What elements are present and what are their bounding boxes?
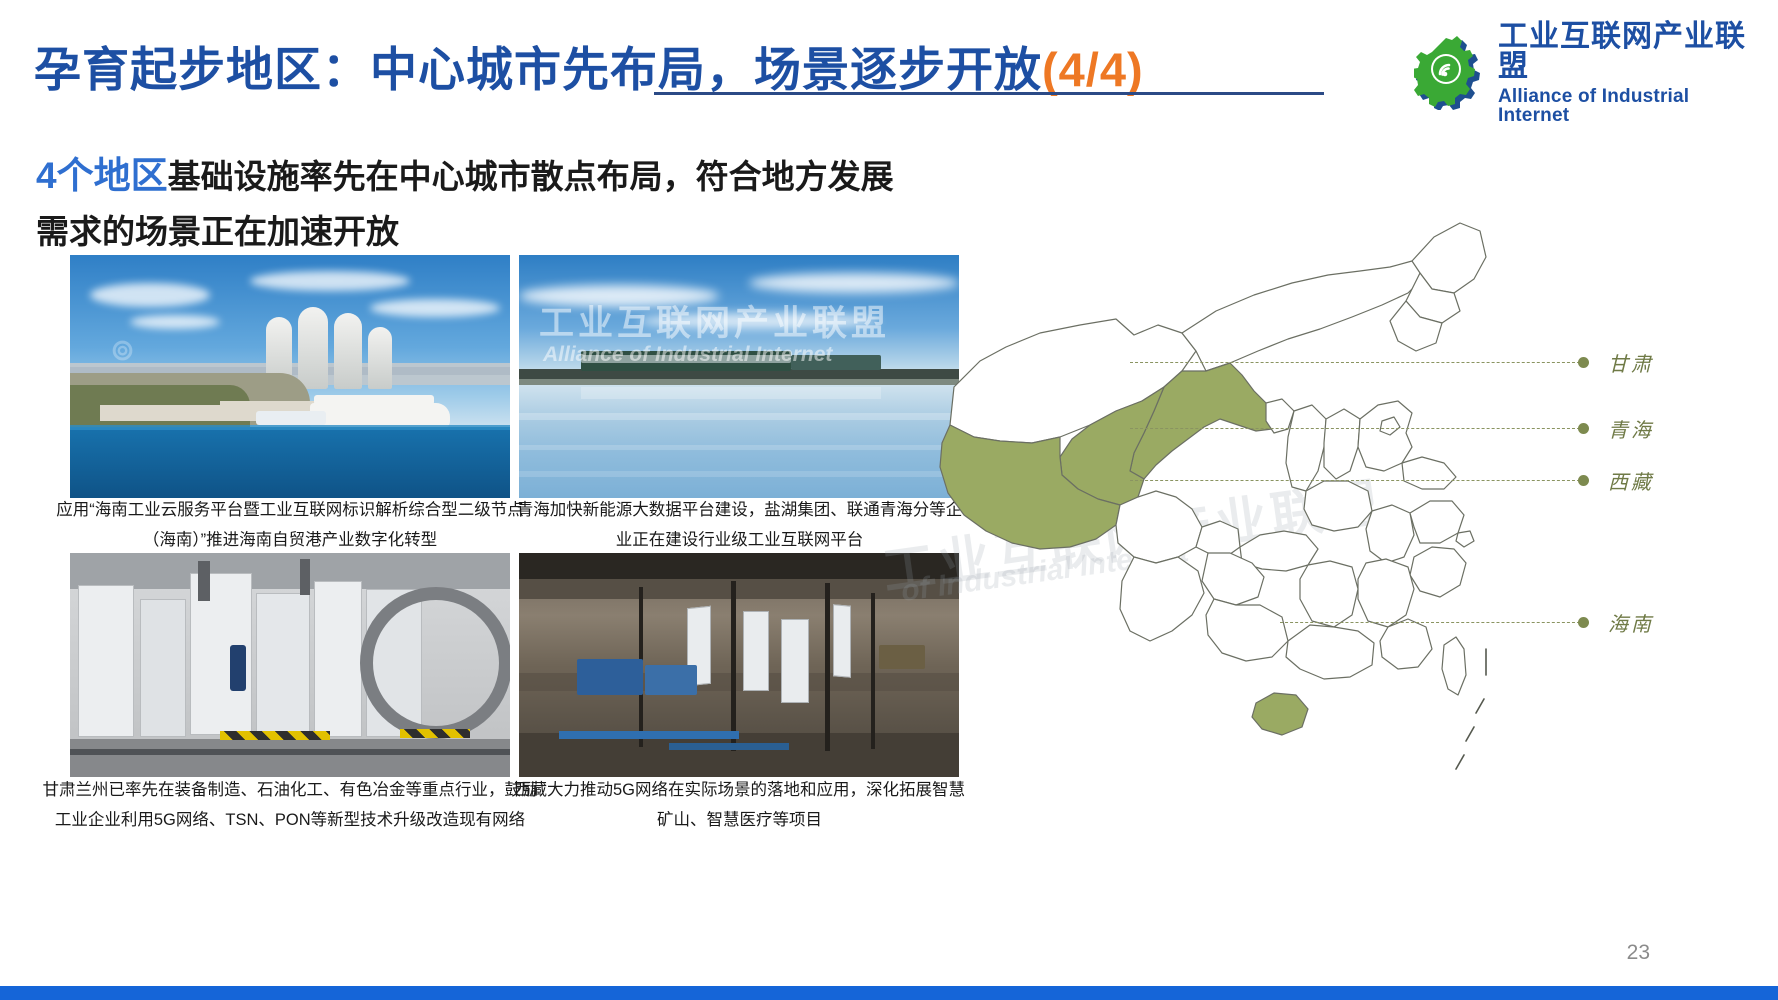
caption-qinghai: 青海加快新能源大数据平台建设，盐湖集团、联通青海分等企业正在建设行业级工业互联网… <box>512 495 967 555</box>
caption-hainan: 应用“海南工业云服务平台暨工业互联网标识解析综合型二级节点（海南）”推进海南自贸… <box>40 495 540 555</box>
footer-bar <box>0 986 1778 1000</box>
map-label-hainan: 海南 <box>1608 608 1654 637</box>
leader-line-gansu <box>1130 362 1580 364</box>
subtitle-line-2: 需求的场景正在加速开放 <box>36 205 399 253</box>
title-underline <box>654 92 1324 95</box>
photo-qinghai-salt-lake: 工业互联网产业联盟 Alliance of Industrial Interne… <box>519 255 959 498</box>
title-text: 孕育起步地区：中心城市先布局，场景逐步开放(4/4) <box>34 30 1354 110</box>
leader-line-tibet <box>1130 480 1580 482</box>
page-title: 孕育起步地区：中心城市先布局，场景逐步开放(4/4) <box>34 30 1354 110</box>
caption-gansu: 甘肃兰州已率先在装备制造、石油化工、有色冶金等重点行业，鼓励工业企业利用5G网络… <box>40 775 540 835</box>
leader-line-hainan <box>1280 622 1580 624</box>
leader-dot-tibet <box>1578 475 1589 486</box>
photo-hainan-sanya-bay: ⊚ <box>70 255 510 498</box>
subtitle-line-1-rest: 基础设施率先在中心城市散点布局，符合地方发展 <box>168 158 894 195</box>
page-number: 23 <box>1627 941 1650 965</box>
leader-dot-qinghai <box>1578 423 1589 434</box>
title-main: 孕育起步地区：中心城市先布局，场景逐步开放 <box>34 43 1042 96</box>
organization-logo: 工业互联网产业联盟 Alliance of Industrial Interne… <box>1414 36 1766 110</box>
leader-dot-hainan <box>1578 617 1589 628</box>
map-label-leaders: 甘肃 青海 西藏 海南 <box>1130 300 1778 700</box>
logo-title-en: Alliance of Industrial Internet <box>1498 87 1766 125</box>
gear-wifi-icon <box>1414 36 1488 110</box>
caption-tibet: 西藏大力推动5G网络在实际场景的落地和应用，深化拓展智慧矿山、智慧医疗等项目 <box>512 775 967 835</box>
logo-text: 工业互联网产业联盟 Alliance of Industrial Interne… <box>1498 22 1766 125</box>
logo-title-cn: 工业互联网产业联盟 <box>1498 22 1766 82</box>
map-label-gansu: 甘肃 <box>1608 348 1654 377</box>
leader-dot-gansu <box>1578 357 1589 368</box>
photo-tibet-smart-mine <box>519 553 959 777</box>
subtitle-line-1: 4个地区基础设施率先在中心城市散点布局，符合地方发展 <box>36 145 894 199</box>
map-label-qinghai: 青海 <box>1608 414 1654 443</box>
photo-gansu-lanzhou-factory <box>70 553 510 777</box>
map-label-tibet: 西藏 <box>1608 466 1654 495</box>
title-counter: (4/4) <box>1042 43 1144 96</box>
slide-root: 孕育起步地区：中心城市先布局，场景逐步开放(4/4) 工业互联网产业 <box>0 0 1778 1000</box>
subtitle-highlight: 4个地区 <box>36 155 168 196</box>
leader-line-qinghai <box>1130 428 1580 430</box>
